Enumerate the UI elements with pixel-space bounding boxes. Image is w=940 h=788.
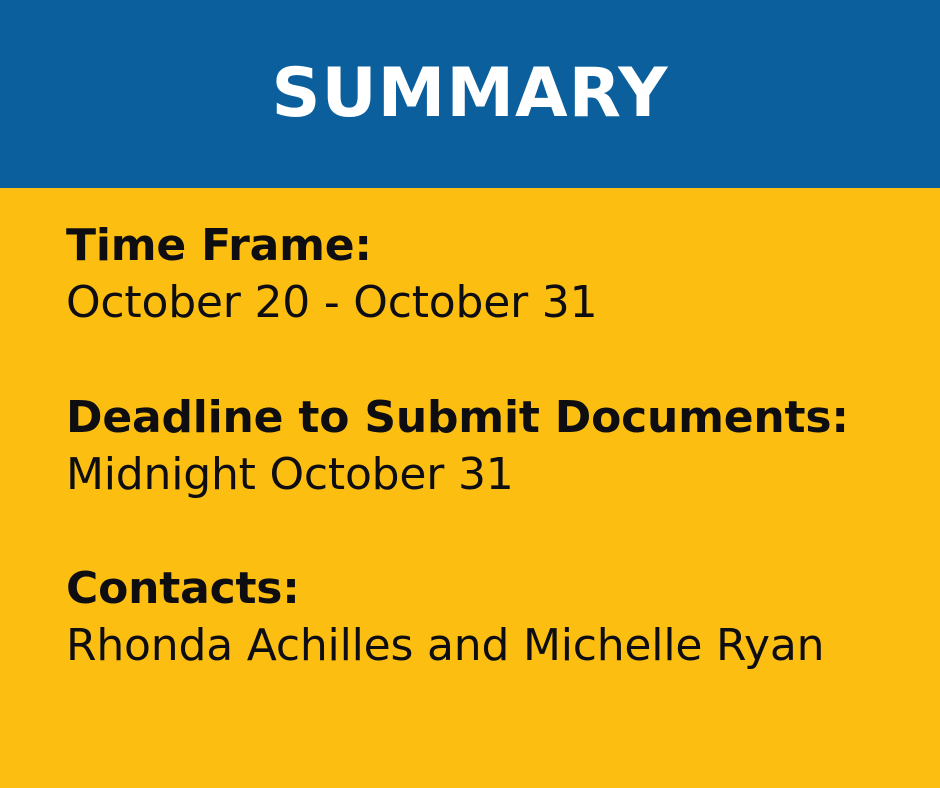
detail-value-contacts: Rhonda Achilles and Michelle Ryan [66, 617, 900, 674]
detail-value-time-frame: October 20 - October 31 [66, 274, 900, 331]
detail-value-deadline: Midnight October 31 [66, 446, 900, 503]
detail-section-deadline: Deadline to Submit Documents: Midnight O… [66, 390, 900, 504]
detail-section-time-frame: Time Frame: October 20 - October 31 [66, 218, 900, 332]
summary-details: Time Frame: October 20 - October 31 Dead… [0, 188, 940, 788]
detail-label-deadline: Deadline to Submit Documents: [66, 390, 900, 446]
detail-label-contacts: Contacts: [66, 561, 900, 617]
detail-label-time-frame: Time Frame: [66, 218, 900, 274]
page-title: SUMMARY [271, 60, 668, 128]
detail-section-contacts: Contacts: Rhonda Achilles and Michelle R… [66, 561, 900, 675]
header-band: SUMMARY [0, 0, 940, 188]
summary-slide: SUMMARY Time Frame: October 20 - October… [0, 0, 940, 788]
